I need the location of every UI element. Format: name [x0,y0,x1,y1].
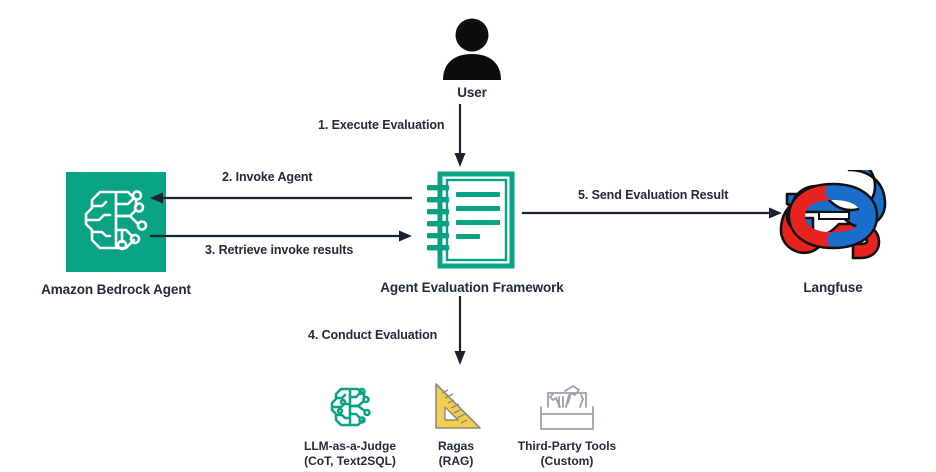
node-bedrock-label: Amazon Bedrock Agent [0,282,232,298]
tool-third-party-label-line1: Third-Party Tools [494,439,640,454]
edge-label-5: 5. Send Evaluation Result [578,188,728,202]
edge-label-2: 2. Invoke Agent [222,170,312,184]
tool-third-party-label-line2: (Custom) [494,454,640,469]
arrow-conduct-evaluation [447,296,473,371]
diagram-canvas: User 1. Execute Evaluation [0,0,936,472]
brain-circuit-icon [0,172,232,272]
node-user: User [424,18,520,101]
node-framework-label: Agent Evaluation Framework [348,280,596,296]
tool-ragas: Ragas (RAG) [418,382,494,469]
edge-label-4: 4. Conduct Evaluation [308,328,437,342]
tool-llm-as-a-judge: LLM-as-a-Judge (CoT, Text2SQL) [282,382,418,469]
node-agent-evaluation-framework: Agent Evaluation Framework [348,168,596,296]
brain-circuit-icon [282,382,418,432]
edge-label-3: 3. Retrieve invoke results [205,243,353,257]
tool-llm-label-line2: (CoT, Text2SQL) [282,454,418,469]
user-person-icon [424,18,520,80]
langfuse-knot-logo-icon [730,168,936,272]
node-user-label: User [424,85,520,101]
triangle-ruler-icon [418,382,494,432]
tool-llm-label-line1: LLM-as-a-Judge [282,439,418,454]
node-langfuse: Langfuse [730,168,936,296]
tool-third-party: Third-Party Tools (Custom) [494,382,640,469]
arrow-execute-evaluation [447,104,473,173]
edge-label-1: 1. Execute Evaluation [318,118,444,132]
tool-ragas-label-line1: Ragas [418,439,494,454]
tool-ragas-label-line2: (RAG) [418,454,494,469]
node-langfuse-label: Langfuse [730,280,936,296]
toolbox-icon [494,382,640,432]
